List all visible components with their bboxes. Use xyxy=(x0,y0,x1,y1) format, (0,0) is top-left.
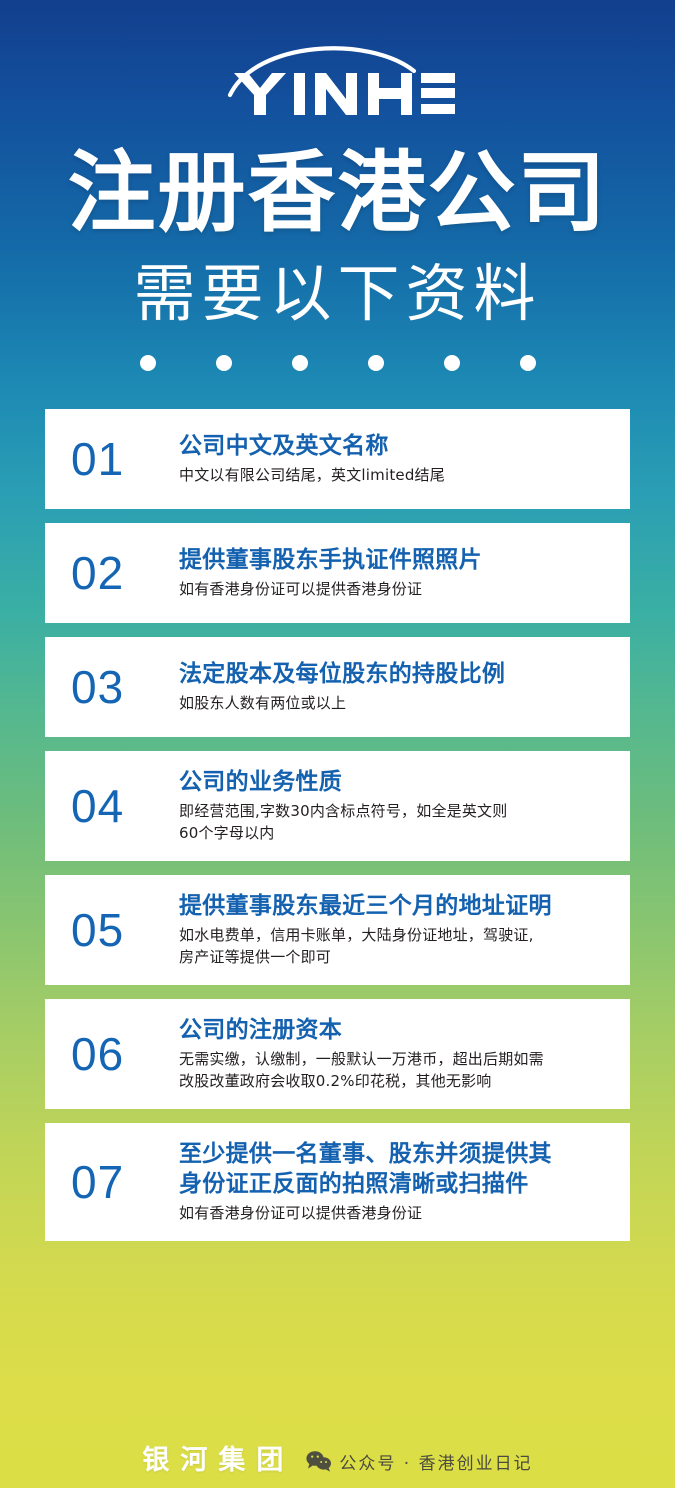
item-number: 04 xyxy=(71,779,179,833)
item-title: 至少提供一名董事、股东并须提供其 身份证正反面的拍照清晰或扫描件 xyxy=(179,1139,610,1200)
item-description: 无需实缴，认缴制，一般默认一万港币，超出后期如需 改股改董政府会收取0.2%印花… xyxy=(179,1049,610,1093)
item-title: 法定股本及每位股东的持股比例 xyxy=(179,659,610,689)
item-content: 提供董事股东手执证件照照片 如有香港身份证可以提供香港身份证 xyxy=(179,545,610,601)
logo-header xyxy=(0,0,675,135)
separator-dot xyxy=(520,355,536,371)
yinhe-logo xyxy=(218,31,458,123)
separator-dot xyxy=(216,355,232,371)
wechat-account: 公众号 · 香港创业日记 xyxy=(306,1449,532,1474)
item-content: 提供董事股东最近三个月的地址证明 如水电费单，信用卡账单，大陆身份证地址，驾驶证… xyxy=(179,891,610,969)
list-item: 02 提供董事股东手执证件照照片 如有香港身份证可以提供香港身份证 xyxy=(45,523,630,623)
list-item: 05 提供董事股东最近三个月的地址证明 如水电费单，信用卡账单，大陆身份证地址，… xyxy=(45,875,630,985)
item-content: 法定股本及每位股东的持股比例 如股东人数有两位或以上 xyxy=(179,659,610,715)
list-item: 03 法定股本及每位股东的持股比例 如股东人数有两位或以上 xyxy=(45,637,630,737)
separator-dot xyxy=(368,355,384,371)
list-item: 06 公司的注册资本 无需实缴，认缴制，一般默认一万港币，超出后期如需 改股改董… xyxy=(45,999,630,1109)
separator-dot xyxy=(140,355,156,371)
item-title: 公司中文及英文名称 xyxy=(179,431,610,461)
item-content: 公司中文及英文名称 中文以有限公司结尾，英文limited结尾 xyxy=(179,431,610,487)
page-subtitle: 需要以下资料 xyxy=(0,263,675,325)
item-description: 即经营范围,字数30内含标点符号，如全是英文则 60个字母以内 xyxy=(179,801,610,845)
item-number: 01 xyxy=(71,432,179,486)
footer: 银河集团 公众号 · 香港创业日记 xyxy=(0,1426,675,1488)
item-content: 公司的业务性质 即经营范围,字数30内含标点符号，如全是英文则 60个字母以内 xyxy=(179,767,610,845)
item-description: 如水电费单，信用卡账单，大陆身份证地址，驾驶证, 房产证等提供一个即可 xyxy=(179,925,610,969)
item-title: 公司的注册资本 xyxy=(179,1015,610,1045)
item-number: 02 xyxy=(71,546,179,600)
company-name: 银河集团 xyxy=(142,1438,294,1477)
item-number: 07 xyxy=(71,1155,179,1209)
item-title: 公司的业务性质 xyxy=(179,767,610,797)
item-description: 如有香港身份证可以提供香港身份证 xyxy=(179,1203,610,1225)
item-title: 提供董事股东最近三个月的地址证明 xyxy=(179,891,610,921)
item-number: 05 xyxy=(71,903,179,957)
separator-dot xyxy=(292,355,308,371)
list-item: 07 至少提供一名董事、股东并须提供其 身份证正反面的拍照清晰或扫描件 如有香港… xyxy=(45,1123,630,1241)
separator-dot xyxy=(444,355,460,371)
list-item: 01 公司中文及英文名称 中文以有限公司结尾，英文limited结尾 xyxy=(45,409,630,509)
list-item: 04 公司的业务性质 即经营范围,字数30内含标点符号，如全是英文则 60个字母… xyxy=(45,751,630,861)
item-content: 至少提供一名董事、股东并须提供其 身份证正反面的拍照清晰或扫描件 如有香港身份证… xyxy=(179,1139,610,1225)
item-content: 公司的注册资本 无需实缴，认缴制，一般默认一万港币，超出后期如需 改股改董政府会… xyxy=(179,1015,610,1093)
dot-separator xyxy=(0,355,675,371)
item-number: 06 xyxy=(71,1027,179,1081)
requirements-list: 01 公司中文及英文名称 中文以有限公司结尾，英文limited结尾 02 提供… xyxy=(0,409,675,1241)
wechat-icon xyxy=(306,1450,332,1472)
item-description: 中文以有限公司结尾，英文limited结尾 xyxy=(179,465,610,487)
item-description: 如有香港身份证可以提供香港身份证 xyxy=(179,579,610,601)
wechat-handle: 公众号 · 香港创业日记 xyxy=(339,1449,532,1474)
item-title: 提供董事股东手执证件照照片 xyxy=(179,545,610,575)
page-title: 注册香港公司 xyxy=(0,149,675,237)
item-description: 如股东人数有两位或以上 xyxy=(179,693,610,715)
item-number: 03 xyxy=(71,660,179,714)
